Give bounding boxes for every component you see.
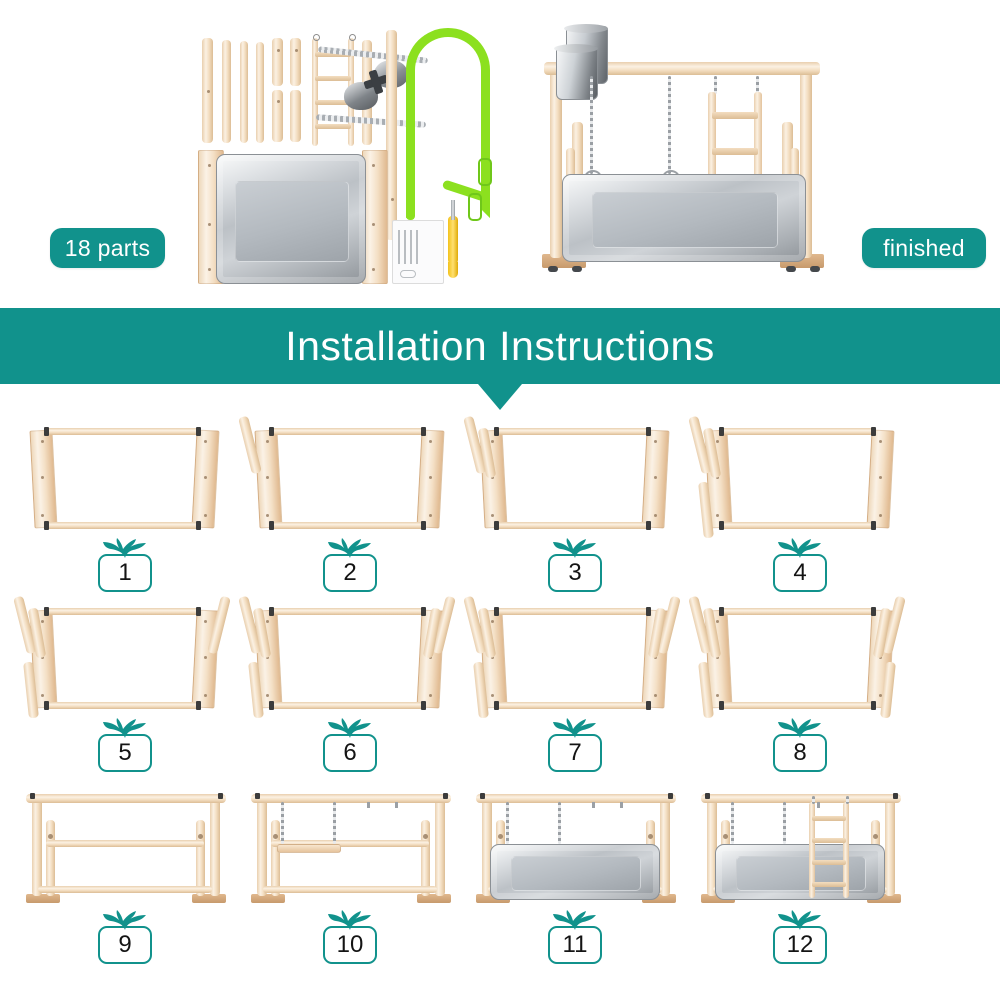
sprout-decoration: [103, 538, 147, 558]
step-5: 5: [10, 590, 240, 775]
swing-chain-left: [731, 802, 734, 844]
step-8-diagram: [685, 590, 915, 725]
rail-top: [721, 428, 875, 435]
step-2-diagram: [235, 410, 465, 545]
sprout-icon: [778, 538, 822, 558]
step-number-badge: 4: [773, 554, 827, 592]
sprout-icon: [778, 910, 822, 930]
step-number-badge: 1: [98, 554, 152, 592]
step-12-badge-wrap: 12: [685, 910, 915, 966]
page-title: Installation Instructions: [285, 323, 715, 370]
rail-top: [496, 428, 650, 435]
upright-right-outer: [435, 796, 445, 896]
ladder-chain-2: [846, 796, 849, 804]
step-number-badge: 2: [323, 554, 377, 592]
upright-right-inner: [421, 820, 430, 896]
sprout-icon: [328, 718, 372, 738]
upright-right-outer: [210, 796, 220, 896]
step-number-badge: 5: [98, 734, 152, 772]
rail-bottom: [46, 522, 200, 529]
step-4: 4: [685, 410, 915, 595]
sprout-icon: [328, 910, 372, 930]
step-3-badge-wrap: 3: [460, 538, 690, 594]
step-12-diagram: [685, 782, 915, 917]
product-hero-section: 18 parts finished: [0, 0, 1000, 300]
step-4-badge-wrap: 4: [685, 538, 915, 594]
step-12: 12: [685, 782, 915, 967]
step-6-diagram: [235, 590, 465, 725]
rail-bottom: [721, 522, 875, 529]
sprout-decoration: [778, 718, 822, 738]
sprout-decoration: [328, 910, 372, 930]
upright-right-inner: [196, 820, 205, 896]
step-5-badge-wrap: 5: [10, 718, 240, 774]
sprout-icon: [103, 718, 147, 738]
step-6-badge-wrap: 6: [235, 718, 465, 774]
bottom-rail: [263, 886, 437, 893]
step-1-badge-wrap: 1: [10, 538, 240, 594]
step-number-badge: 9: [98, 926, 152, 964]
sprout-decoration: [553, 718, 597, 738]
rail-top: [271, 608, 425, 615]
swing-chain-left: [506, 802, 509, 844]
upright-left-inner: [271, 820, 280, 896]
finished-photo: [528, 18, 848, 286]
sprout-decoration: [328, 538, 372, 558]
parts-screwdriver: [448, 216, 458, 264]
rail-bottom: [496, 522, 650, 529]
instructions-banner: Installation Instructions: [0, 308, 1000, 384]
top-rail: [26, 794, 226, 803]
sprout-icon: [778, 718, 822, 738]
step-7-badge-wrap: 7: [460, 718, 690, 774]
step-4-diagram: [685, 410, 915, 545]
steps-grid: 123456789101112: [0, 410, 1000, 1000]
rail-top: [721, 608, 875, 615]
rail-bottom: [721, 702, 875, 709]
sprout-decoration: [103, 910, 147, 930]
foot-left: [26, 894, 60, 903]
step-1: 1: [10, 410, 240, 595]
step-number-badge: 8: [773, 734, 827, 772]
step-3: 3: [460, 410, 690, 595]
bottom-rail: [38, 886, 212, 893]
step-number-badge: 3: [548, 554, 602, 592]
step-11-badge-wrap: 11: [460, 910, 690, 966]
step-steel-tray: [715, 844, 885, 900]
step-5-diagram: [10, 590, 240, 725]
sprout-decoration: [553, 538, 597, 558]
rail-bottom: [271, 522, 425, 529]
step-2: 2: [235, 410, 465, 595]
step-number-badge: 6: [323, 734, 377, 772]
rail-top: [46, 608, 200, 615]
swing-chain-right: [558, 802, 561, 844]
rail-bottom: [46, 702, 200, 709]
step-1-diagram: [10, 410, 240, 545]
sprout-icon: [553, 718, 597, 738]
step-8-badge-wrap: 8: [685, 718, 915, 774]
step-steel-tray: [490, 844, 660, 900]
upright-right-outer: [660, 796, 670, 896]
ladder-chain: [812, 796, 815, 804]
step-6: 6: [235, 590, 465, 775]
step-9-diagram: [10, 782, 240, 917]
rail-top: [496, 608, 650, 615]
sprout-decoration: [778, 538, 822, 558]
step-2-badge-wrap: 2: [235, 538, 465, 594]
rail-top: [271, 428, 425, 435]
swing-chain-right: [783, 802, 786, 844]
upright-left-outer: [257, 796, 267, 896]
step-ladder: [809, 802, 851, 898]
upright-right-outer: [885, 796, 895, 896]
page-root: 18 parts finished Installation Instructi…: [0, 0, 1000, 1000]
upright-left-outer: [32, 796, 42, 896]
step-number-badge: 11: [548, 926, 602, 964]
rail-top: [46, 428, 200, 435]
step-9-badge-wrap: 9: [10, 910, 240, 966]
banner-tail-triangle: [478, 384, 522, 410]
parts-photo: [190, 18, 520, 283]
step-7-diagram: [460, 590, 690, 725]
sprout-decoration: [103, 718, 147, 738]
step-10-diagram: [235, 782, 465, 917]
step-7: 7: [460, 590, 690, 775]
step-9: 9: [10, 782, 240, 967]
middle-rail: [46, 840, 204, 847]
step-10: 10: [235, 782, 465, 967]
foot-left: [251, 894, 285, 903]
finished-steel-tray: [562, 174, 806, 262]
rail-bottom: [271, 702, 425, 709]
step-3-diagram: [460, 410, 690, 545]
sprout-icon: [553, 910, 597, 930]
step-10-badge-wrap: 10: [235, 910, 465, 966]
swing-chain-right: [333, 802, 336, 844]
sprout-decoration: [553, 910, 597, 930]
sprout-decoration: [328, 718, 372, 738]
parts-count-badge: 18 parts: [50, 228, 165, 268]
sprout-icon: [103, 910, 147, 930]
sprout-decoration: [778, 910, 822, 930]
step-number-badge: 12: [773, 926, 827, 964]
step-number-badge: 7: [548, 734, 602, 772]
upright-left-inner: [46, 820, 55, 896]
step-11-diagram: [460, 782, 690, 917]
step-11: 11: [460, 782, 690, 967]
sprout-icon: [103, 538, 147, 558]
parts-steel-tray: [216, 154, 366, 284]
rail-bottom: [496, 702, 650, 709]
sprout-icon: [553, 538, 597, 558]
finished-badge: finished: [862, 228, 986, 268]
swing-seat: [277, 844, 341, 853]
step-8: 8: [685, 590, 915, 775]
sprout-icon: [328, 538, 372, 558]
step-number-badge: 10: [323, 926, 377, 964]
swing-chain-left: [281, 802, 284, 844]
